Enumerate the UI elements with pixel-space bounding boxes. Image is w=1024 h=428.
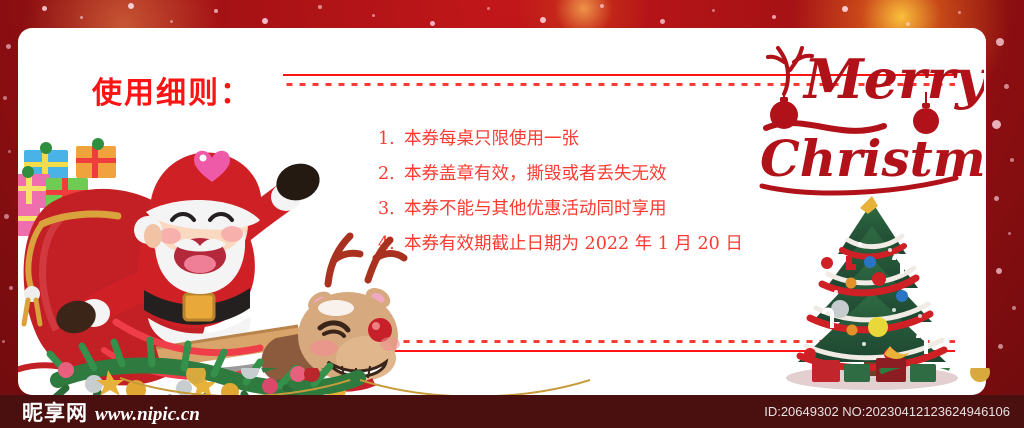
rule-text: 本券每桌只限使用一张 xyxy=(404,122,579,157)
logo-line1: Merry xyxy=(802,47,984,111)
rule-item: 2. 本券盖章有效，撕毁或者丢失无效 xyxy=(378,157,743,192)
rules-list: 1. 本券每桌只限使用一张 2. 本券盖章有效，撕毁或者丢失无效 3. 本券不能… xyxy=(378,122,743,262)
watermark-bar: 昵享网 www.nipic.cn ID:20649302 NO:20230412… xyxy=(0,395,1024,428)
watermark-brand: 昵享网 www.nipic.cn xyxy=(0,397,200,427)
rule-text: 本券不能与其他优惠活动同时享用 xyxy=(404,192,667,227)
page-title: 使用细则： xyxy=(92,68,252,112)
santa-illustration xyxy=(18,112,418,395)
christmas-tree-illustration xyxy=(772,196,972,392)
image-id-label: ID:20649302 NO:20230412123624946106 xyxy=(764,404,1024,419)
rule-text: 本券有效期截止日期为 2022 年 1 月 20 日 xyxy=(404,227,743,262)
poster-canvas: 使用细则： 1. 本券每桌只限使用一张 2. 本券盖章有效，撕毁或者丢失无效 3… xyxy=(0,0,1024,428)
coupon-card: 使用细则： 1. 本券每桌只限使用一张 2. 本券盖章有效，撕毁或者丢失无效 3… xyxy=(18,28,986,395)
rule-item: 1. 本券每桌只限使用一张 xyxy=(378,122,743,157)
rule-item: 3. 本券不能与其他优惠活动同时享用 xyxy=(378,192,743,227)
site-logo: 昵享网 xyxy=(22,397,88,427)
rule-item: 4. 本券有效期截止日期为 2022 年 1 月 20 日 xyxy=(378,227,743,262)
rule-text: 本券盖章有效，撕毁或者丢失无效 xyxy=(404,157,667,192)
merry-christmas-logo: Merry Christmas xyxy=(744,36,984,196)
site-url: www.nipic.cn xyxy=(95,404,200,426)
reindeer-illustration xyxy=(261,236,404,395)
